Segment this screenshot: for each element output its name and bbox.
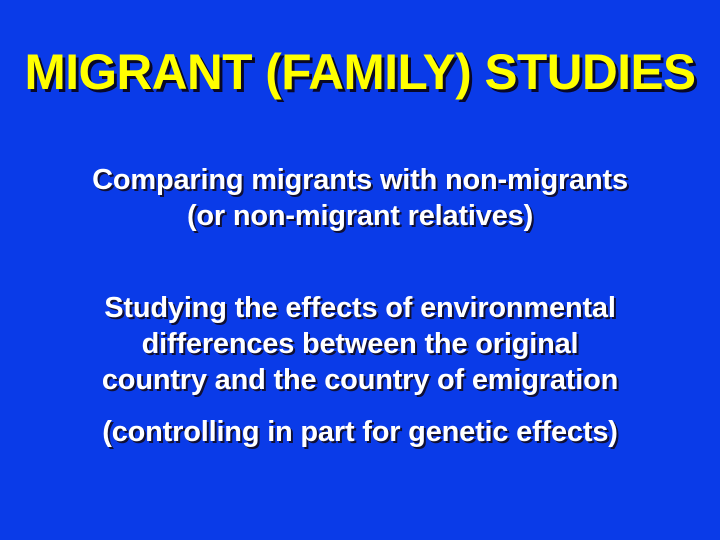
page-title: MIGRANT (FAMILY) STUDIES xyxy=(4,46,717,99)
presentation-slide: MIGRANT (FAMILY) STUDIES Comparing migra… xyxy=(0,0,720,540)
body-line: (or non-migrant relatives) xyxy=(0,198,720,234)
body-line: Studying the effects of environmental xyxy=(0,290,720,326)
slide-body-block-comparison: Comparing migrants with non-migrants (or… xyxy=(0,162,720,234)
body-line: differences between the original xyxy=(0,326,720,362)
body-line: country and the country of emigration xyxy=(0,362,720,398)
body-line: Comparing migrants with non-migrants xyxy=(0,162,720,198)
slide-body-block-environment: Studying the effects of environmental di… xyxy=(0,290,720,398)
body-line: (controlling in part for genetic effects… xyxy=(0,414,720,450)
slide-body-block-control: (controlling in part for genetic effects… xyxy=(0,414,720,450)
